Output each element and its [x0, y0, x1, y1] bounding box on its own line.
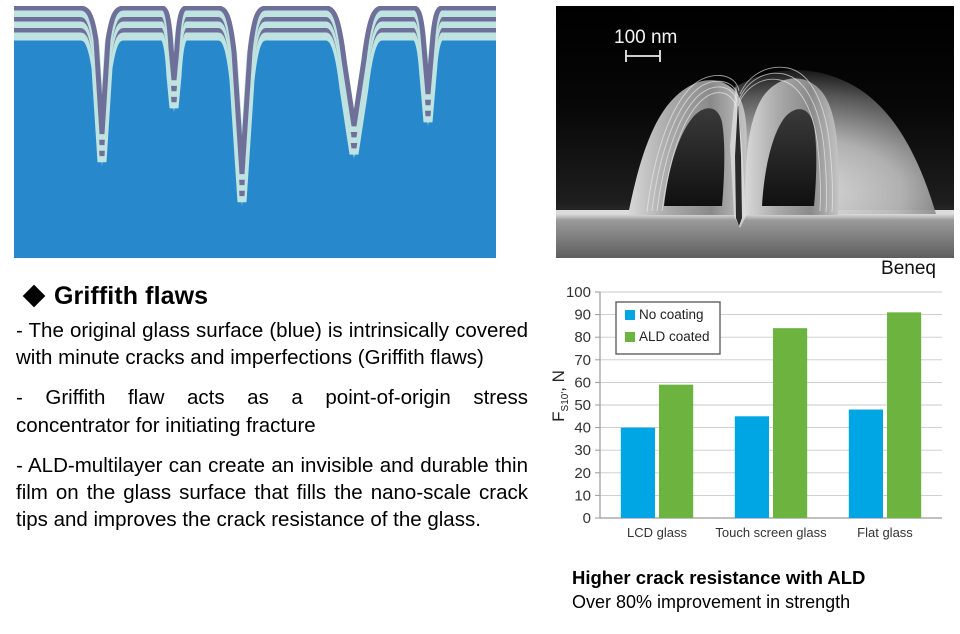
sem-scale-label: 100 nm [614, 27, 677, 48]
body-paragraph-1: - The original glass surface (blue) is i… [14, 317, 534, 372]
crack-resistance-chart: 0102030405060708090100LCD glassTouch scr… [548, 282, 954, 632]
griffith-text-column: Griffith flaws - The original glass surf… [14, 282, 534, 628]
sem-credit-label: Beneq [556, 256, 954, 282]
bar-ald-coated-flat-glass [887, 312, 921, 518]
slide-root: 100 nm Beneq Griffith flaws - The origin… [0, 0, 960, 634]
bar-no-coating-lcd-glass [621, 428, 655, 518]
y-tick-label: 10 [574, 487, 591, 504]
y-tick-label: 60 [574, 374, 591, 391]
y-tick-label: 70 [574, 352, 591, 369]
y-tick-label: 100 [566, 284, 591, 301]
sem-svg: 100 nm [556, 6, 954, 258]
body-paragraph-2: - Griffith flaw acts as a point-of-origi… [14, 384, 534, 439]
chart-caption-line1: Higher crack resistance with ALD [572, 566, 954, 589]
y-tick-label: 30 [574, 442, 591, 459]
bar-no-coating-touch-screen-glass [735, 416, 769, 518]
bar-ald-coated-touch-screen-glass [773, 328, 807, 518]
bar-ald-coated-lcd-glass [659, 385, 693, 518]
y-tick-label: 80 [574, 329, 591, 346]
section-heading: Griffith flaws [24, 282, 534, 311]
x-category-label: Touch screen glass [715, 525, 827, 540]
y-tick-label: 90 [574, 307, 591, 324]
y-tick-label: 50 [574, 397, 591, 414]
griffith-flaw-schematic [14, 6, 496, 258]
legend-swatch-no-coating [625, 310, 635, 320]
svg-text:FS10', N: FS10', N [549, 370, 571, 422]
sem-substrate [556, 210, 954, 258]
chart-caption: Higher crack resistance with ALD Over 80… [572, 566, 954, 615]
y-axis-title: FS10', N [549, 370, 571, 422]
legend-swatch-ald-coated [625, 332, 635, 342]
sem-micrograph: 100 nm [556, 6, 954, 258]
schematic-svg [14, 6, 496, 258]
chart-svg: 0102030405060708090100LCD glassTouch scr… [548, 282, 954, 562]
y-tick-label: 40 [574, 420, 591, 437]
diamond-bullet-icon [23, 285, 46, 308]
body-paragraph-3: - ALD-multilayer can create an invisible… [14, 452, 534, 534]
section-heading-label: Griffith flaws [54, 282, 208, 311]
x-category-label: LCD glass [627, 525, 687, 540]
bar-no-coating-flat-glass [849, 410, 883, 518]
y-tick-label: 0 [583, 510, 591, 527]
legend-label-ald-coated: ALD coated [639, 329, 710, 344]
y-tick-label: 20 [574, 465, 591, 482]
chart-caption-line2: Over 80% improvement in strength [572, 591, 954, 614]
x-category-label: Flat glass [857, 525, 913, 540]
legend-label-no-coating: No coating [639, 307, 704, 322]
